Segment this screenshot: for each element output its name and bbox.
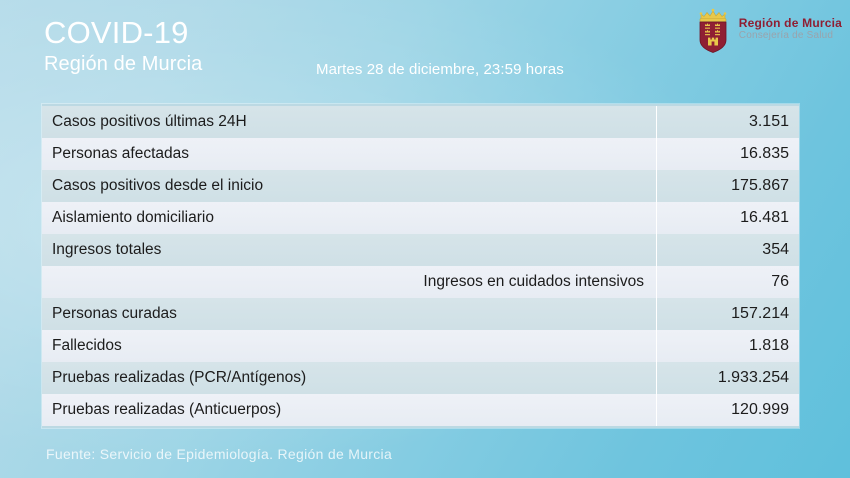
row-value: 1.818: [656, 330, 799, 362]
row-value: 175.867: [656, 170, 799, 202]
table-row: Fallecidos 1.818: [42, 330, 799, 362]
row-label: Pruebas realizadas (Anticuerpos): [42, 394, 656, 426]
table-row: Casos positivos últimas 24H 3.151: [42, 106, 799, 138]
row-label: Personas afectadas: [42, 138, 656, 170]
table-row: Personas afectadas 16.835: [42, 138, 799, 170]
row-value: 120.999: [656, 394, 799, 426]
row-value: 1.933.254: [656, 362, 799, 394]
murcia-coat-of-arms-icon: [693, 4, 733, 54]
row-label: Casos positivos últimas 24H: [42, 106, 656, 138]
page-title: COVID-19: [44, 16, 202, 50]
row-value: 16.481: [656, 202, 799, 234]
table-row: Ingresos totales 354: [42, 234, 799, 266]
row-value: 16.835: [656, 138, 799, 170]
row-label: Ingresos totales: [42, 234, 656, 266]
report-datetime: Martes 28 de diciembre, 23:59 horas: [316, 61, 564, 78]
table-row: Casos positivos desde el inicio 175.867: [42, 170, 799, 202]
statistics-table: Casos positivos últimas 24H 3.151 Person…: [42, 104, 799, 428]
table-row: Pruebas realizadas (Anticuerpos) 120.999: [42, 394, 799, 426]
title-block: COVID-19 Región de Murcia: [44, 16, 202, 76]
logo-line-department: Consejería de Salud: [739, 31, 842, 42]
row-value: 3.151: [656, 106, 799, 138]
region-logo: Región de Murcia Consejería de Salud: [693, 4, 842, 54]
row-label: Ingresos en cuidados intensivos: [42, 266, 656, 298]
page-subtitle: Región de Murcia: [44, 52, 202, 76]
row-label: Fallecidos: [42, 330, 656, 362]
poster-header: COVID-19 Región de Murcia Martes 28 de d…: [44, 16, 804, 94]
table-row: Aislamiento domiciliario 16.481: [42, 202, 799, 234]
row-value: 157.214: [656, 298, 799, 330]
logo-line-region: Región de Murcia: [739, 17, 842, 30]
row-value: 76: [656, 266, 799, 298]
row-label: Aislamiento domiciliario: [42, 202, 656, 234]
source-footnote: Fuente: Servicio de Epidemiología. Regió…: [46, 446, 392, 462]
row-label: Casos positivos desde el inicio: [42, 170, 656, 202]
row-value: 354: [656, 234, 799, 266]
logo-wordmark: Región de Murcia Consejería de Salud: [739, 17, 842, 41]
row-label: Personas curadas: [42, 298, 656, 330]
table-row: Personas curadas 157.214: [42, 298, 799, 330]
table-row-sub: Ingresos en cuidados intensivos 76: [42, 266, 799, 298]
table-row: Pruebas realizadas (PCR/Antígenos) 1.933…: [42, 362, 799, 394]
covid-stats-poster: COVID-19 Región de Murcia Martes 28 de d…: [0, 0, 850, 478]
row-label: Pruebas realizadas (PCR/Antígenos): [42, 362, 656, 394]
